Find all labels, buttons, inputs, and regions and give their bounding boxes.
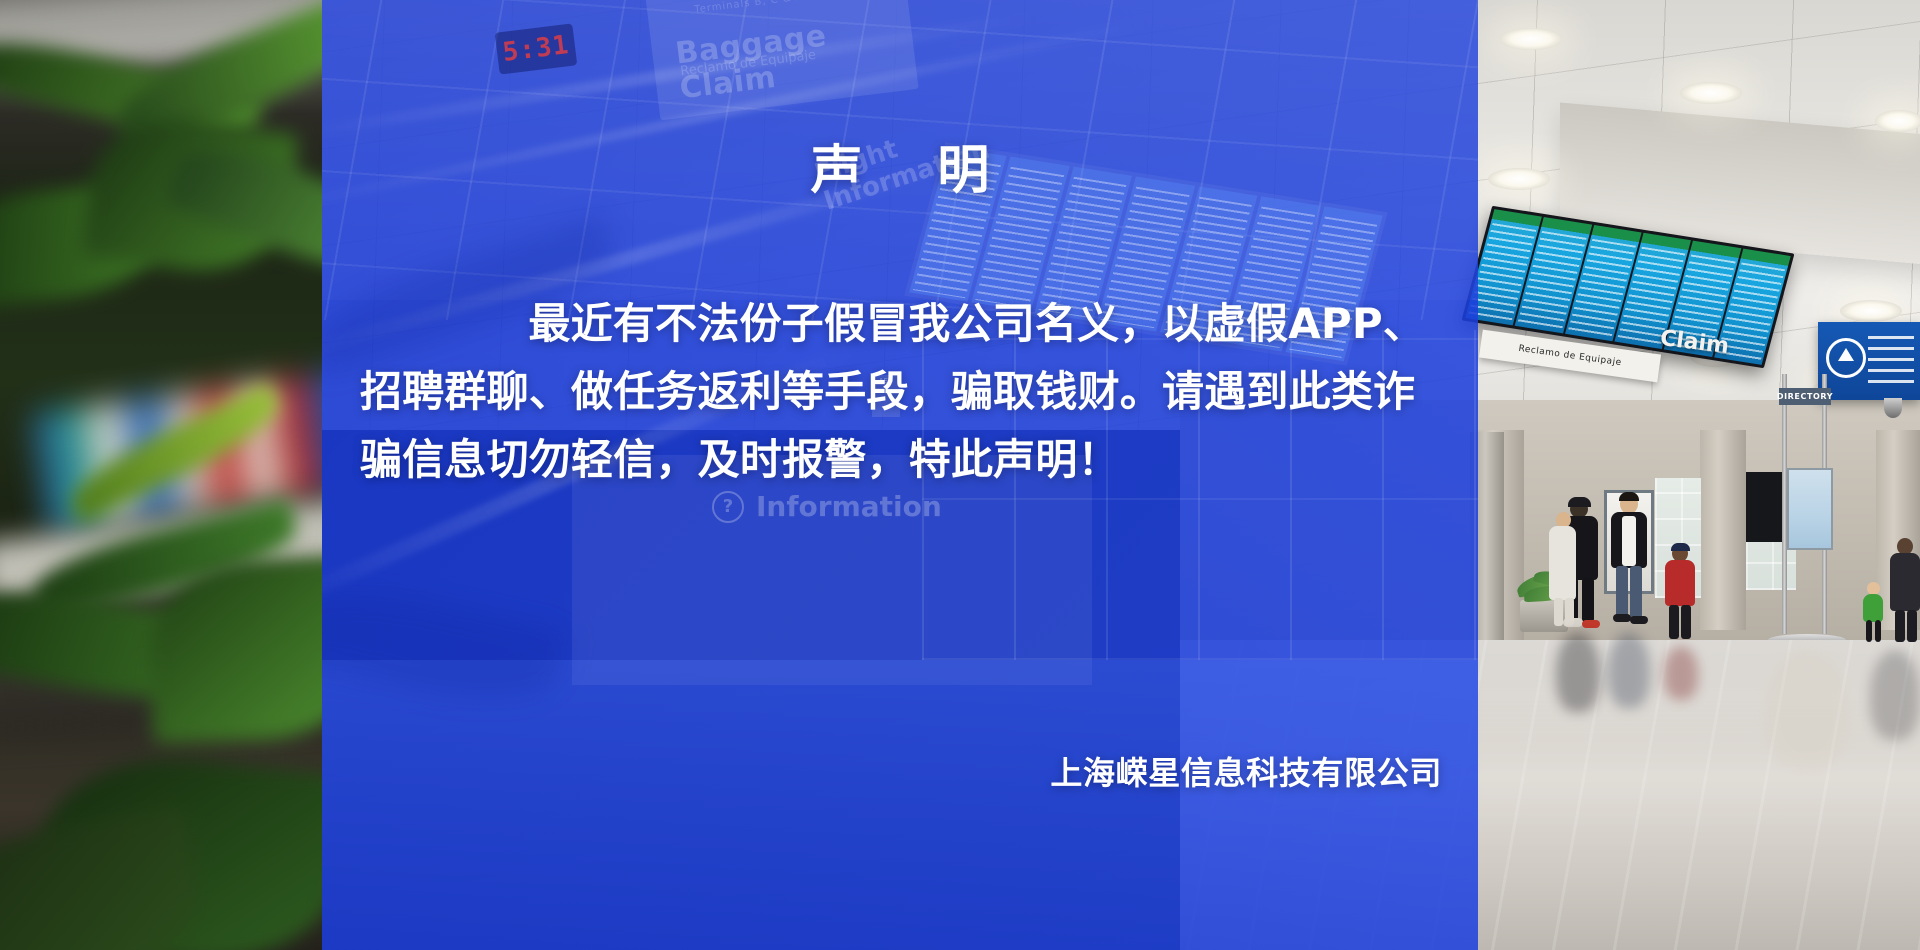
ceiling-light [1488, 168, 1550, 190]
ceiling-light [1875, 110, 1920, 132]
wayfinding-sign [1818, 322, 1920, 400]
foreground-plant-blur [0, 0, 322, 950]
ceiling-light [1840, 300, 1902, 322]
person-cap [1671, 543, 1690, 551]
person-leg [1866, 620, 1872, 642]
person-jacket [1863, 594, 1883, 622]
ceiling-light [1680, 82, 1742, 104]
person-leg [1875, 620, 1881, 642]
plant-leaf [0, 807, 212, 950]
floor-reflection-blob [1870, 650, 1920, 740]
person-child [1862, 582, 1884, 644]
announcement-body: 最近有不法份子假冒我公司名义，以虚假APP、招聘群聊、做任务返利等手段，骗取钱财… [360, 290, 1446, 494]
wall-display-panel [1746, 472, 1786, 542]
floor-reflection-blob [1766, 648, 1848, 768]
person-leg [1669, 605, 1679, 639]
person-shoe [1613, 614, 1631, 622]
person-shoe [1582, 620, 1600, 628]
person-coat [1549, 526, 1576, 600]
person-leg [1681, 605, 1691, 639]
announcement-banner: Reclamo de Equipaje Claim DIRECTORY [0, 0, 1920, 950]
person-walking [1609, 494, 1649, 630]
person-leg [1907, 610, 1917, 642]
wayfinding-sign-text-lines [1868, 336, 1914, 388]
company-signature: 上海嵘星信息科技有限公司 [1050, 748, 1442, 794]
person-walking [1548, 512, 1578, 630]
floor-reflection-blob [1556, 632, 1600, 712]
page-title: 声 明 [322, 128, 1478, 203]
person-shoe [1630, 616, 1648, 624]
person-leg [1895, 610, 1905, 642]
announcement-content: 声 明 最近有不法份子假冒我公司名义，以虚假APP、招聘群聊、做任务返利等手段，… [322, 0, 1478, 950]
person-uniform-top [1665, 560, 1695, 606]
person-leg [1616, 566, 1628, 618]
up-arrow-icon [1826, 338, 1866, 378]
person-cap [1568, 497, 1591, 507]
baggage-claim-small-sign-label: Reclamo de Equipaje [1518, 344, 1622, 368]
person-leg [1630, 566, 1642, 618]
person-leg [1554, 598, 1563, 626]
floor-reflection-blob [1608, 632, 1650, 708]
announcement-paragraph: 最近有不法份子假冒我公司名义，以虚假APP、招聘群聊、做任务返利等手段，骗取钱财… [360, 290, 1446, 494]
person-walking [1890, 538, 1920, 646]
person-leg [1582, 578, 1594, 622]
person-shirt [1622, 516, 1636, 566]
floor-reflection-blob [1664, 646, 1698, 700]
person-staff [1663, 545, 1697, 645]
wall-column [1700, 430, 1746, 630]
person-leg [1565, 598, 1574, 626]
ceiling-light [1500, 28, 1562, 50]
person-coat [1890, 553, 1920, 611]
directory-kiosk-screen [1787, 468, 1833, 550]
security-camera-icon [1884, 398, 1902, 418]
directory-sign: DIRECTORY [1779, 388, 1831, 405]
person-hair [1619, 492, 1639, 501]
